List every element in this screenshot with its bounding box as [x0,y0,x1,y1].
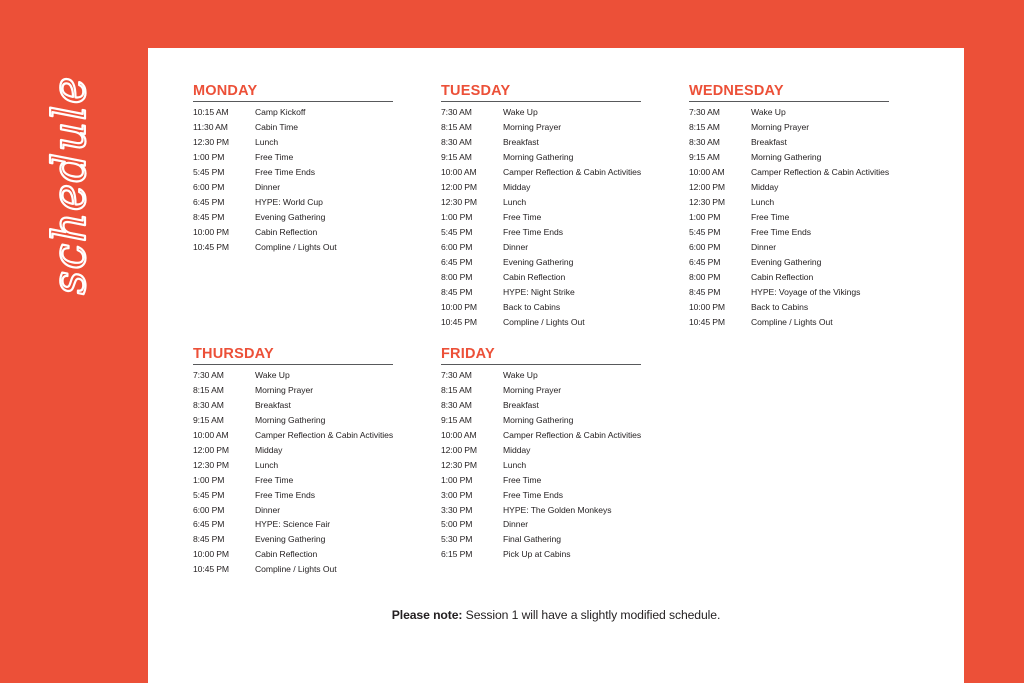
table-row: 10:45 PMCompline / Lights Out [193,243,337,258]
table-row: 8:00 PMCabin Reflection [689,273,889,288]
table-row: 10:45 PMCompline / Lights Out [441,318,641,333]
event-activity: Free Time [255,153,337,168]
event-activity: Breakfast [503,138,641,153]
event-time: 1:00 PM [441,213,503,228]
event-activity: Final Gathering [503,535,641,550]
day-rule-tuesday [441,101,641,102]
day-rule-wednesday [689,101,889,102]
event-activity: Dinner [255,506,393,521]
event-list-friday: 7:30 AMWake Up 8:15 AMMorning Prayer 8:3… [441,371,641,566]
event-activity: Evening Gathering [503,258,641,273]
table-row: 6:00 PMDinner [441,243,641,258]
table-row: 8:30 AMBreakfast [689,138,889,153]
table-row: 6:15 PMPick Up at Cabins [441,550,641,565]
day-title-monday: MONDAY [193,84,441,100]
event-activity: Free Time Ends [503,228,641,243]
day-column-thursday: THURSDAY 7:30 AMWake Up 8:15 AMMorning P… [193,347,441,581]
event-time: 10:45 PM [441,318,503,333]
table-row: 12:00 PMMidday [193,446,393,461]
event-time: 12:00 PM [441,183,503,198]
footer-note-text: Session 1 will have a slightly modified … [466,608,721,622]
day-title-friday: FRIDAY [441,347,689,363]
event-time: 10:15 AM [193,108,255,123]
table-row: 6:45 PMHYPE: World Cup [193,198,337,213]
event-activity: Camper Reflection & Cabin Activities [255,431,393,446]
event-time: 5:45 PM [193,168,255,183]
event-activity: Breakfast [751,138,889,153]
event-time: 7:30 AM [689,108,751,123]
event-activity: Back to Cabins [751,303,889,318]
event-time: 8:45 PM [193,213,255,228]
table-row: 12:00 PMMidday [689,183,889,198]
event-activity: Morning Prayer [503,123,641,138]
event-activity: HYPE: World Cup [255,198,337,213]
table-row: 10:00 PMCabin Reflection [193,228,337,243]
event-time: 6:00 PM [193,506,255,521]
event-time: 6:45 PM [193,520,255,535]
event-activity: Evening Gathering [255,213,337,228]
table-row: 10:45 PMCompline / Lights Out [193,565,393,580]
event-activity: Cabin Reflection [503,273,641,288]
table-row: 1:00 PMFree Time [441,476,641,491]
table-row: 8:15 AMMorning Prayer [689,123,889,138]
event-activity: Lunch [503,461,641,476]
table-row: 12:30 PMLunch [689,198,889,213]
table-row: 5:45 PMFree Time Ends [193,168,337,183]
event-time: 10:00 PM [193,550,255,565]
event-activity: Cabin Reflection [255,550,393,565]
event-time: 8:00 PM [689,273,751,288]
day-column-monday: MONDAY 10:15 AMCamp Kickoff 11:30 AMCabi… [193,84,441,333]
day-title-tuesday: TUESDAY [441,84,689,100]
day-column-friday: FRIDAY 7:30 AMWake Up 8:15 AMMorning Pra… [441,347,689,581]
event-activity: Evening Gathering [751,258,889,273]
table-row: 5:45 PMFree Time Ends [689,228,889,243]
table-row: 10:00 AMCamper Reflection & Cabin Activi… [441,431,641,446]
event-time: 12:00 PM [441,446,503,461]
event-table-thursday: 7:30 AMWake Up 8:15 AMMorning Prayer 8:3… [193,371,393,581]
event-activity: HYPE: The Golden Monkeys [503,506,641,521]
event-time: 8:30 AM [193,401,255,416]
event-activity: Midday [503,183,641,198]
event-activity: Dinner [503,243,641,258]
table-row: 10:00 AMCamper Reflection & Cabin Activi… [689,168,889,183]
table-row: 8:30 AMBreakfast [441,401,641,416]
event-activity: Cabin Reflection [751,273,889,288]
event-activity: Back to Cabins [503,303,641,318]
table-row: 8:45 PMHYPE: Voyage of the Vikings [689,288,889,303]
event-time: 8:15 AM [689,123,751,138]
schedule-page: schedule MONDAY 10:15 AMCamp Kickoff 11:… [0,0,1024,683]
event-time: 5:00 PM [441,520,503,535]
event-time: 8:45 PM [193,535,255,550]
event-activity: Lunch [255,138,337,153]
table-row: 9:15 AMMorning Gathering [689,153,889,168]
event-time: 6:45 PM [689,258,751,273]
event-time: 10:00 AM [441,168,503,183]
event-time: 10:45 PM [689,318,751,333]
event-activity: HYPE: Science Fair [255,520,393,535]
schedule-row-bottom: THURSDAY 7:30 AMWake Up 8:15 AMMorning P… [193,347,933,581]
schedule-row-top: MONDAY 10:15 AMCamp Kickoff 11:30 AMCabi… [193,84,933,333]
event-activity: Free Time Ends [503,491,641,506]
schedule-grid: MONDAY 10:15 AMCamp Kickoff 11:30 AMCabi… [193,84,933,580]
table-row: 8:30 AMBreakfast [441,138,641,153]
table-row: 8:30 AMBreakfast [193,401,393,416]
event-activity: Dinner [255,183,337,198]
event-time: 12:00 PM [689,183,751,198]
event-time: 1:00 PM [689,213,751,228]
table-row: 8:45 PMEvening Gathering [193,535,393,550]
event-activity: HYPE: Night Strike [503,288,641,303]
table-row: 5:30 PMFinal Gathering [441,535,641,550]
event-activity: Lunch [255,461,393,476]
table-row: 1:00 PMFree Time [193,153,337,168]
table-row: 8:45 PMHYPE: Night Strike [441,288,641,303]
table-row: 6:00 PMDinner [193,506,393,521]
day-rule-friday [441,364,641,365]
event-activity: Midday [255,446,393,461]
event-activity: Free Time Ends [255,491,393,506]
event-activity: Free Time Ends [255,168,337,183]
event-time: 9:15 AM [441,153,503,168]
event-time: 1:00 PM [441,476,503,491]
event-list-tuesday: 7:30 AMWake Up 8:15 AMMorning Prayer 8:3… [441,108,641,333]
event-time: 10:00 PM [441,303,503,318]
event-time: 12:30 PM [441,461,503,476]
event-activity: Midday [751,183,889,198]
event-activity: Breakfast [255,401,393,416]
event-time: 10:00 PM [193,228,255,243]
table-row: 12:00 PMMidday [441,446,641,461]
event-time: 8:15 AM [441,386,503,401]
table-row: 9:15 AMMorning Gathering [441,416,641,431]
table-row: 7:30 AMWake Up [689,108,889,123]
table-row: 8:45 PMEvening Gathering [193,213,337,228]
event-time: 8:30 AM [689,138,751,153]
event-activity: Free Time [503,476,641,491]
event-activity: Breakfast [503,401,641,416]
table-row: 10:45 PMCompline / Lights Out [689,318,889,333]
table-row: 10:15 AMCamp Kickoff [193,108,337,123]
event-list-thursday: 7:30 AMWake Up 8:15 AMMorning Prayer 8:3… [193,371,393,581]
event-time: 7:30 AM [441,108,503,123]
table-row: 10:00 PMCabin Reflection [193,550,393,565]
event-time: 10:45 PM [193,243,255,258]
event-activity: Morning Prayer [255,386,393,401]
event-time: 8:30 AM [441,401,503,416]
event-table-friday: 7:30 AMWake Up 8:15 AMMorning Prayer 8:3… [441,371,641,566]
table-row: 6:00 PMDinner [193,183,337,198]
event-activity: Morning Prayer [503,386,641,401]
event-time: 5:45 PM [441,228,503,243]
table-row: 6:00 PMDinner [689,243,889,258]
schedule-wordmark-text: schedule [42,75,96,294]
event-activity: Dinner [751,243,889,258]
day-rule-monday [193,101,393,102]
table-row: 12:30 PMLunch [441,461,641,476]
event-time: 3:30 PM [441,506,503,521]
event-activity: Morning Gathering [503,416,641,431]
footer-note-label: Please note: [392,608,463,622]
event-table-monday: 10:15 AMCamp Kickoff 11:30 AMCabin Time … [193,108,337,258]
event-activity: Morning Gathering [503,153,641,168]
event-time: 8:30 AM [441,138,503,153]
event-time: 8:15 AM [193,386,255,401]
table-row: 5:00 PMDinner [441,520,641,535]
event-table-wednesday: 7:30 AMWake Up 8:15 AMMorning Prayer 8:3… [689,108,889,333]
table-row: 1:00 PMFree Time [193,476,393,491]
event-activity: Compline / Lights Out [255,243,337,258]
event-activity: Wake Up [255,371,393,386]
table-row: 10:00 PMBack to Cabins [689,303,889,318]
event-time: 12:30 PM [689,198,751,213]
event-time: 6:00 PM [193,183,255,198]
day-title-thursday: THURSDAY [193,347,441,363]
event-activity: Free Time [751,213,889,228]
event-activity: Evening Gathering [255,535,393,550]
table-row: 6:45 PMHYPE: Science Fair [193,520,393,535]
table-row: 10:00 AMCamper Reflection & Cabin Activi… [441,168,641,183]
event-activity: Morning Prayer [751,123,889,138]
table-row: 8:15 AMMorning Prayer [193,386,393,401]
event-time: 5:45 PM [689,228,751,243]
event-activity: Camper Reflection & Cabin Activities [751,168,889,183]
event-activity: Free Time [255,476,393,491]
event-activity: Lunch [751,198,889,213]
event-activity: Compline / Lights Out [751,318,889,333]
event-activity: Free Time Ends [751,228,889,243]
event-time: 8:45 PM [689,288,751,303]
table-row: 8:15 AMMorning Prayer [441,123,641,138]
table-row: 12:00 PMMidday [441,183,641,198]
table-row: 9:15 AMMorning Gathering [193,416,393,431]
event-time: 10:00 AM [689,168,751,183]
event-activity: Compline / Lights Out [503,318,641,333]
event-time: 10:00 AM [441,431,503,446]
event-activity: Wake Up [751,108,889,123]
event-activity: Compline / Lights Out [255,565,393,580]
event-activity: HYPE: Voyage of the Vikings [751,288,889,303]
event-table-tuesday: 7:30 AMWake Up 8:15 AMMorning Prayer 8:3… [441,108,641,333]
table-row: 12:30 PMLunch [193,138,337,153]
table-row: 12:30 PMLunch [193,461,393,476]
event-time: 10:00 AM [193,431,255,446]
event-time: 8:45 PM [441,288,503,303]
event-time: 6:45 PM [193,198,255,213]
event-activity: Cabin Time [255,123,337,138]
event-time: 8:00 PM [441,273,503,288]
event-time: 12:30 PM [193,138,255,153]
event-list-wednesday: 7:30 AMWake Up 8:15 AMMorning Prayer 8:3… [689,108,889,333]
event-time: 6:00 PM [441,243,503,258]
schedule-paper: MONDAY 10:15 AMCamp Kickoff 11:30 AMCabi… [148,48,964,683]
event-activity: Cabin Reflection [255,228,337,243]
event-time: 7:30 AM [441,371,503,386]
event-time: 8:15 AM [441,123,503,138]
table-row: 10:00 PMBack to Cabins [441,303,641,318]
table-row: 6:45 PMEvening Gathering [689,258,889,273]
day-rule-thursday [193,364,393,365]
event-activity: Lunch [503,198,641,213]
event-activity: Wake Up [503,371,641,386]
event-time: 5:45 PM [193,491,255,506]
event-time: 11:30 AM [193,123,255,138]
event-time: 1:00 PM [193,476,255,491]
table-row: 11:30 AMCabin Time [193,123,337,138]
event-activity: Pick Up at Cabins [503,550,641,565]
table-row: 1:00 PMFree Time [689,213,889,228]
event-time: 6:45 PM [441,258,503,273]
event-time: 9:15 AM [441,416,503,431]
table-row: 8:15 AMMorning Prayer [441,386,641,401]
event-time: 12:30 PM [441,198,503,213]
event-time: 9:15 AM [689,153,751,168]
footer-note: Please note: Session 1 will have a sligh… [148,608,964,622]
event-time: 5:30 PM [441,535,503,550]
event-time: 1:00 PM [193,153,255,168]
event-activity: Camper Reflection & Cabin Activities [503,431,641,446]
table-row: 3:00 PMFree Time Ends [441,491,641,506]
event-activity: Morning Gathering [255,416,393,431]
table-row: 6:45 PMEvening Gathering [441,258,641,273]
table-row: 7:30 AMWake Up [441,371,641,386]
event-time: 12:30 PM [193,461,255,476]
table-row: 7:30 AMWake Up [193,371,393,386]
event-list-monday: 10:15 AMCamp Kickoff 11:30 AMCabin Time … [193,108,337,258]
day-column-wednesday: WEDNESDAY 7:30 AMWake Up 8:15 AMMorning … [689,84,937,333]
schedule-wordmark: schedule [43,70,103,300]
event-activity: Midday [503,446,641,461]
event-activity: Camper Reflection & Cabin Activities [503,168,641,183]
event-activity: Camp Kickoff [255,108,337,123]
day-title-wednesday: WEDNESDAY [689,84,937,100]
event-time: 6:15 PM [441,550,503,565]
event-time: 9:15 AM [193,416,255,431]
event-time: 12:00 PM [193,446,255,461]
table-row: 1:00 PMFree Time [441,213,641,228]
day-column-tuesday: TUESDAY 7:30 AMWake Up 8:15 AMMorning Pr… [441,84,689,333]
table-row: 8:00 PMCabin Reflection [441,273,641,288]
event-time: 10:45 PM [193,565,255,580]
event-time: 10:00 PM [689,303,751,318]
event-time: 3:00 PM [441,491,503,506]
event-activity: Morning Gathering [751,153,889,168]
table-row: 7:30 AMWake Up [441,108,641,123]
table-row: 12:30 PMLunch [441,198,641,213]
table-row: 9:15 AMMorning Gathering [441,153,641,168]
event-time: 6:00 PM [689,243,751,258]
event-activity: Dinner [503,520,641,535]
event-time: 7:30 AM [193,371,255,386]
table-row: 10:00 AMCamper Reflection & Cabin Activi… [193,431,393,446]
table-row: 5:45 PMFree Time Ends [193,491,393,506]
table-row: 5:45 PMFree Time Ends [441,228,641,243]
event-activity: Free Time [503,213,641,228]
event-activity: Wake Up [503,108,641,123]
table-row: 3:30 PMHYPE: The Golden Monkeys [441,506,641,521]
